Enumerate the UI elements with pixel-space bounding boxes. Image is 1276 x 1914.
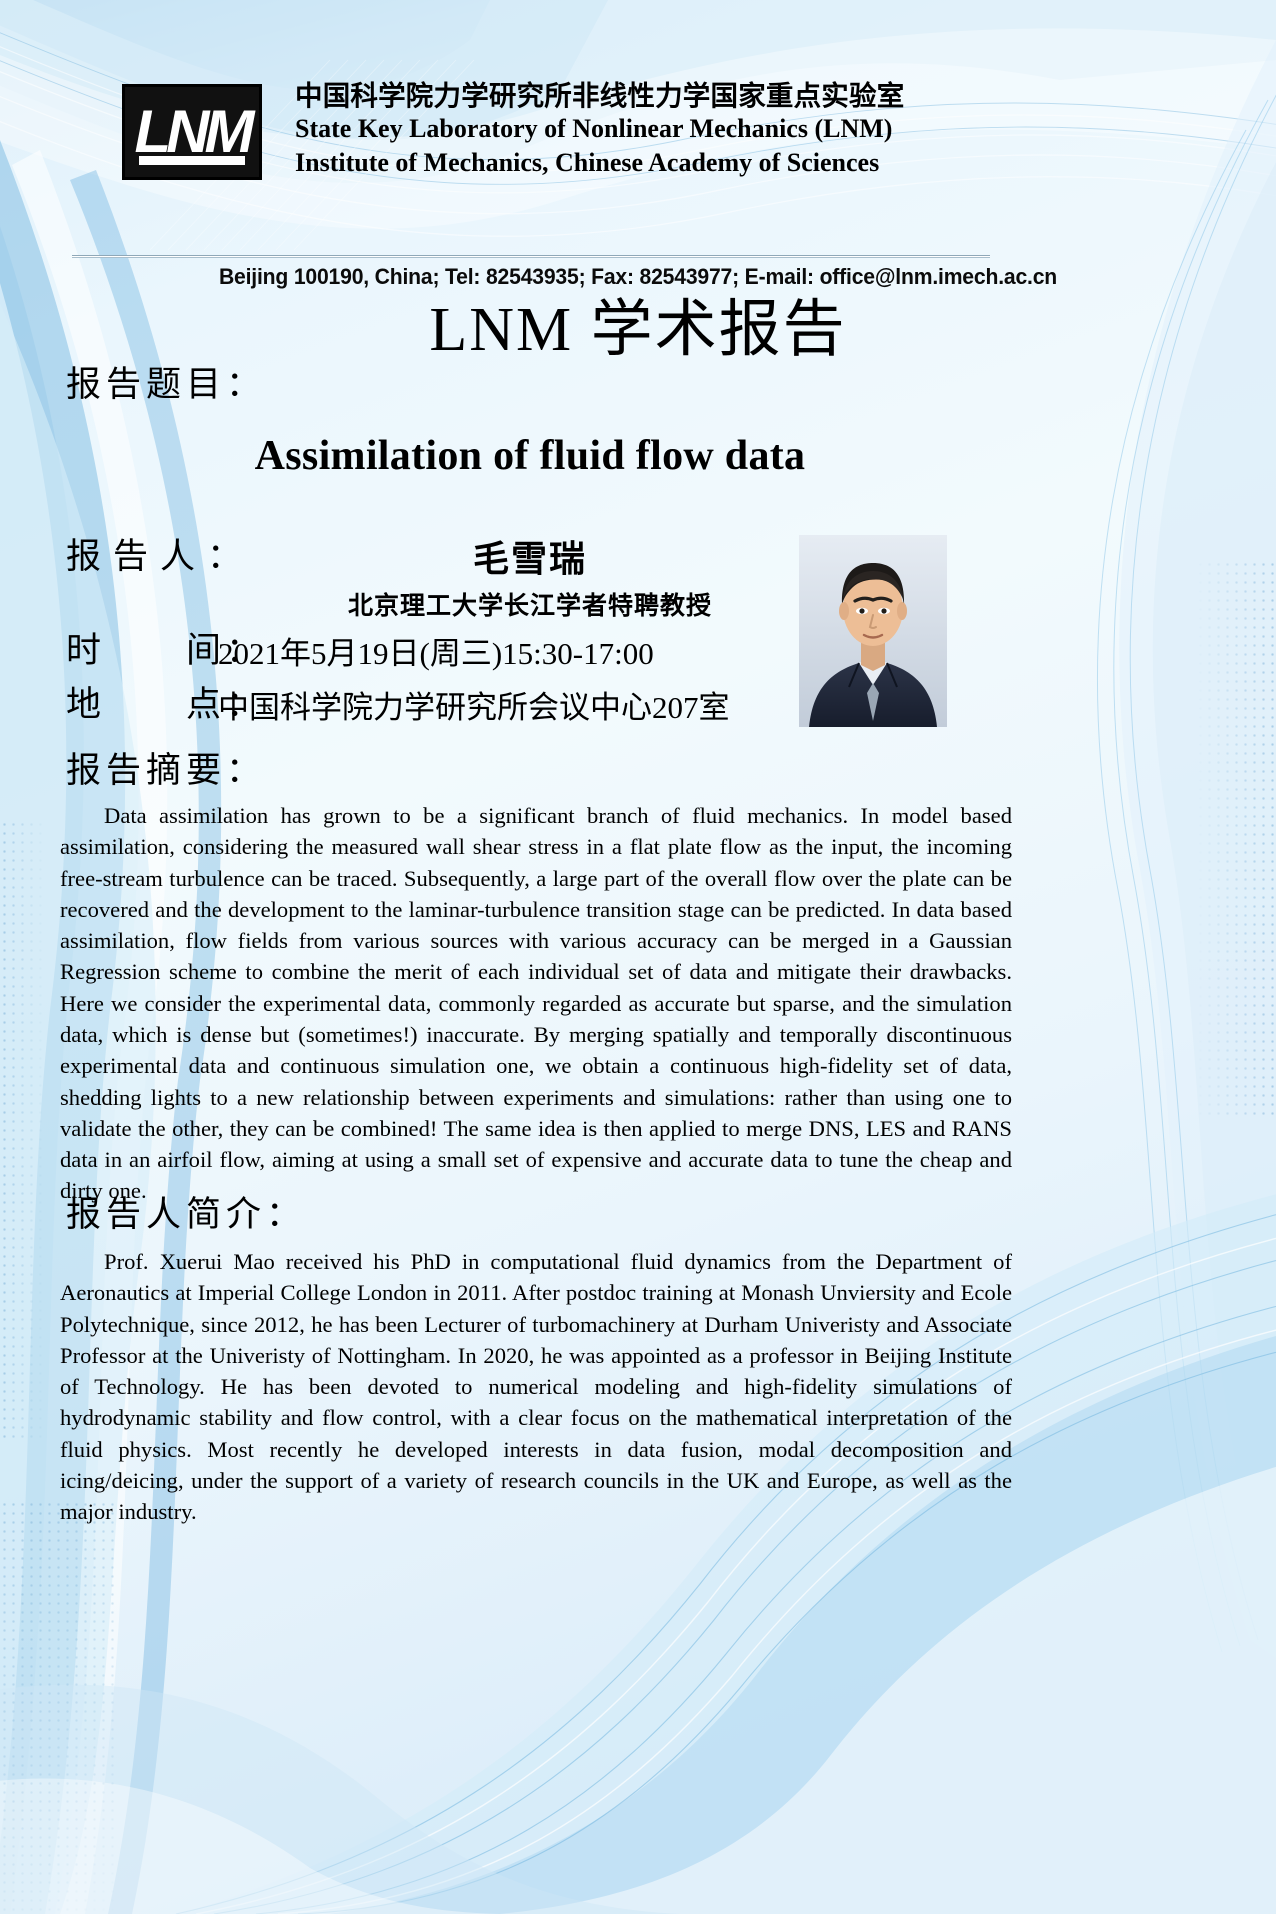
speaker-portrait [799,535,947,727]
label-bio: 报告人简介： [66,1186,306,1237]
org-name-cn: 中国科学院力学研究所非线性力学国家重点实验室 [295,80,995,112]
bio-text: Prof. Xuerui Mao received his PhD in com… [60,1246,1012,1528]
org-name-en-line2: Institute of Mechanics, Chinese Academy … [295,146,995,180]
abstract-text: Data assimilation has grown to be a sign… [60,800,1012,1207]
lnm-logo-bar [139,156,245,165]
header-divider [72,255,990,258]
place-value: 中国科学院力学研究所会议中心207室 [218,682,730,727]
org-name-en-line1: State Key Laboratory of Nonlinear Mechan… [295,112,995,146]
organization-block: 中国科学院力学研究所非线性力学国家重点实验室 State Key Laborat… [295,80,995,179]
lnm-logo: LNM [122,84,262,180]
poster-content: LNM 中国科学院力学研究所非线性力学国家重点实验室 State Key Lab… [0,0,1276,1914]
talk-title: Assimilation of fluid flow data [0,432,1060,480]
label-topic: 报告题目： [66,356,266,407]
label-abstract: 报告摘要： [66,742,266,793]
banner-title: LNM 学术报告 [0,278,1276,368]
time-value: 2021年5月19日(周三)15:30-17:00 [218,628,654,673]
lnm-logo-text: LNM [135,102,250,162]
portrait-illustration [799,535,947,727]
poster-header: LNM 中国科学院力学研究所非线性力学国家重点实验室 State Key Lab… [0,72,1276,212]
